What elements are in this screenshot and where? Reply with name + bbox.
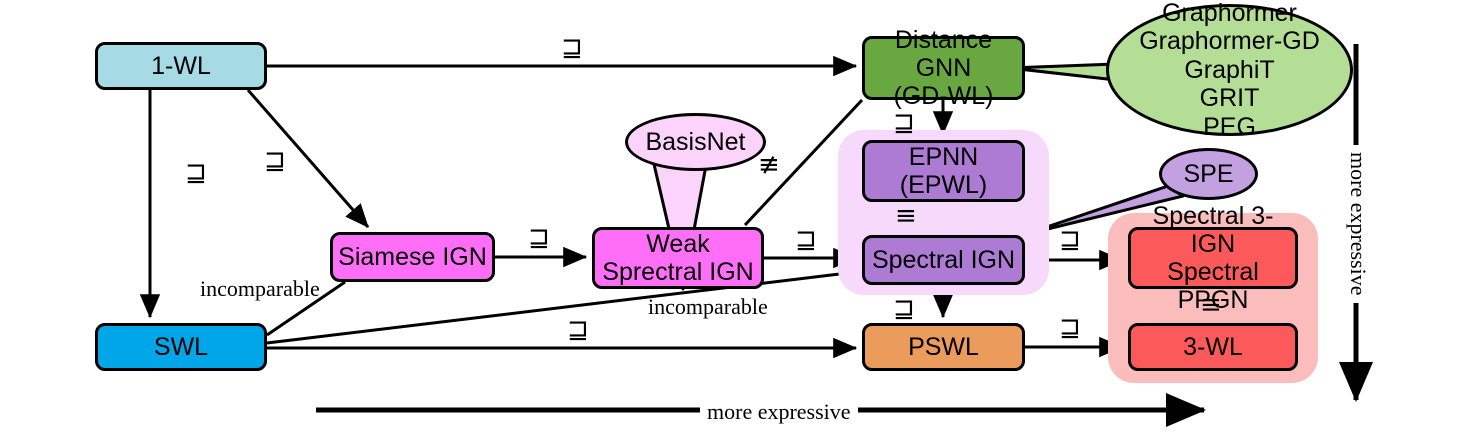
relation-tag-distance-epnn: ⊒ bbox=[893, 110, 915, 136]
diagram-canvas: 1-WL SWL Siamese IGN Weak Sprectral IGN … bbox=[0, 0, 1466, 441]
relation-tag-spectral-ign-pswl: ⊒ bbox=[893, 296, 915, 322]
node-pswl[interactable]: PSWL bbox=[862, 323, 1025, 371]
node-one-wl[interactable]: 1-WL bbox=[95, 42, 267, 90]
relation-tag-distance-weak-spectral: ≢ bbox=[758, 152, 780, 178]
axis-label-horizontal: more expressive bbox=[700, 399, 858, 425]
relation-tag-spectral-3-ign-three-wl: ≡ bbox=[1200, 292, 1222, 318]
callout-spe[interactable]: SPE bbox=[1159, 148, 1258, 200]
relation-tag-siamese-weak-spectral: ⊒ bbox=[528, 225, 550, 251]
node-siamese-ign[interactable]: Siamese IGN bbox=[330, 232, 495, 282]
callout-graphormer-models[interactable]: Graphormer Graphormer-GD GraphiT GRIT PE… bbox=[1106, 4, 1353, 136]
node-spectral-3-ign[interactable]: Spectral 3-IGN Spectral PPGN bbox=[1128, 227, 1298, 289]
node-distance-gnn[interactable]: Distance GNN (GD-WL) bbox=[862, 36, 1025, 100]
relation-tag-spectral-ign-spectral-3-ign: ⊒ bbox=[1059, 227, 1081, 253]
node-spectral-ign[interactable]: Spectral IGN bbox=[862, 235, 1025, 285]
axis-label-vertical: more expressive bbox=[1345, 145, 1371, 303]
relation-tag-epnn-spectral-ign: ≡ bbox=[895, 203, 917, 229]
node-swl[interactable]: SWL bbox=[95, 323, 267, 371]
node-weak-spectral-ign[interactable]: Weak Sprectral IGN bbox=[592, 227, 764, 289]
callout-basisnet[interactable]: BasisNet bbox=[625, 113, 766, 171]
relation-tag-one-wl-siamese: ⊒ bbox=[264, 148, 286, 174]
label-incomparable-left: incomparable bbox=[200, 278, 320, 300]
node-epnn[interactable]: EPNN (EPWL) bbox=[862, 140, 1025, 202]
relation-tag-weak-spectral-spectral-ign: ⊒ bbox=[795, 227, 817, 253]
relation-tag-pswl-three-wl: ⊒ bbox=[1059, 315, 1081, 341]
graphormer-callout-tail bbox=[1010, 64, 1116, 80]
relation-tag-one-wl-distance-gnn: ⊒ bbox=[561, 35, 583, 61]
relation-tag-swl-pswl: ⊒ bbox=[567, 317, 589, 343]
node-three-wl[interactable]: 3-WL bbox=[1128, 323, 1298, 371]
relation-tag-one-wl-swl: ⊒ bbox=[185, 160, 207, 186]
label-incomparable-right: incomparable bbox=[648, 296, 768, 318]
